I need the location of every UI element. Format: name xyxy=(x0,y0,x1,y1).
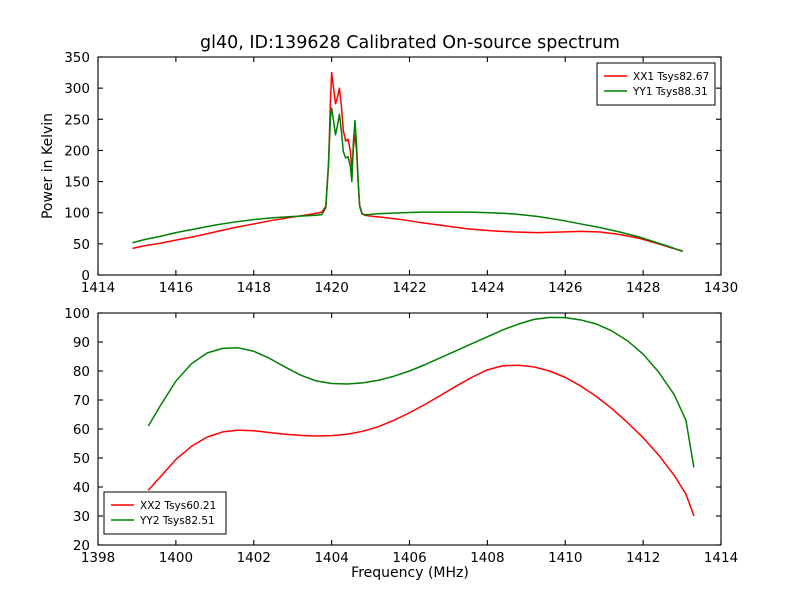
y-tick-label: 200 xyxy=(64,143,90,159)
y-tick-label: 100 xyxy=(64,306,90,322)
y-tick-label: 250 xyxy=(64,112,90,128)
y-tick-label: 50 xyxy=(73,237,90,253)
x-tick-label: 1416 xyxy=(159,280,193,296)
legend-label: YY1 Tsys88.31 xyxy=(632,86,708,98)
x-tick-label: 1430 xyxy=(704,280,738,296)
y-tick-label: 40 xyxy=(73,480,90,496)
y-tick-label: 20 xyxy=(73,538,90,554)
x-tick-label: 1400 xyxy=(159,550,193,566)
x-tick-label: 1426 xyxy=(548,280,582,296)
page-title: gl40, ID:139628 Calibrated On-source spe… xyxy=(200,33,620,53)
y-tick-label: 30 xyxy=(73,509,90,525)
y-tick-label: 0 xyxy=(81,268,90,284)
x-tick-label: 1414 xyxy=(704,550,738,566)
x-tick-label: 1424 xyxy=(470,280,504,296)
y-tick-label: 350 xyxy=(64,50,90,66)
figure-canvas: gl40, ID:139628 Calibrated On-source spe… xyxy=(0,0,800,600)
y-tick-label: 60 xyxy=(73,422,90,438)
bottom-x-axis-label: Frequency (MHz) xyxy=(351,565,469,581)
x-tick-label: 1428 xyxy=(626,280,660,296)
bottom-legend: XX2 Tsys60.21YY2 Tsys82.51 xyxy=(104,492,226,534)
x-tick-label: 1422 xyxy=(392,280,426,296)
top-y-axis-label: Power in Kelvin xyxy=(40,113,56,219)
x-tick-label: 1406 xyxy=(392,550,426,566)
spectrum-figure: gl40, ID:139628 Calibrated On-source spe… xyxy=(0,0,800,600)
legend-label: XX1 Tsys82.67 xyxy=(633,71,709,83)
x-tick-label: 1412 xyxy=(626,550,660,566)
legend-box xyxy=(104,492,226,534)
y-tick-label: 80 xyxy=(73,364,90,380)
x-tick-label: 1402 xyxy=(237,550,271,566)
x-tick-label: 1420 xyxy=(314,280,348,296)
legend-label: XX2 Tsys60.21 xyxy=(140,500,216,512)
x-tick-label: 1408 xyxy=(470,550,504,566)
y-tick-label: 70 xyxy=(73,393,90,409)
y-tick-label: 300 xyxy=(64,81,90,97)
legend-label: YY2 Tsys82.51 xyxy=(139,515,215,527)
x-tick-label: 1410 xyxy=(548,550,582,566)
legend-box xyxy=(597,63,715,105)
y-tick-label: 90 xyxy=(73,335,90,351)
x-tick-label: 1404 xyxy=(314,550,348,566)
y-tick-label: 50 xyxy=(73,451,90,467)
y-tick-label: 150 xyxy=(64,175,90,191)
x-tick-label: 1418 xyxy=(237,280,271,296)
y-tick-label: 100 xyxy=(64,206,90,222)
top-legend: XX1 Tsys82.67YY1 Tsys88.31 xyxy=(597,63,715,105)
